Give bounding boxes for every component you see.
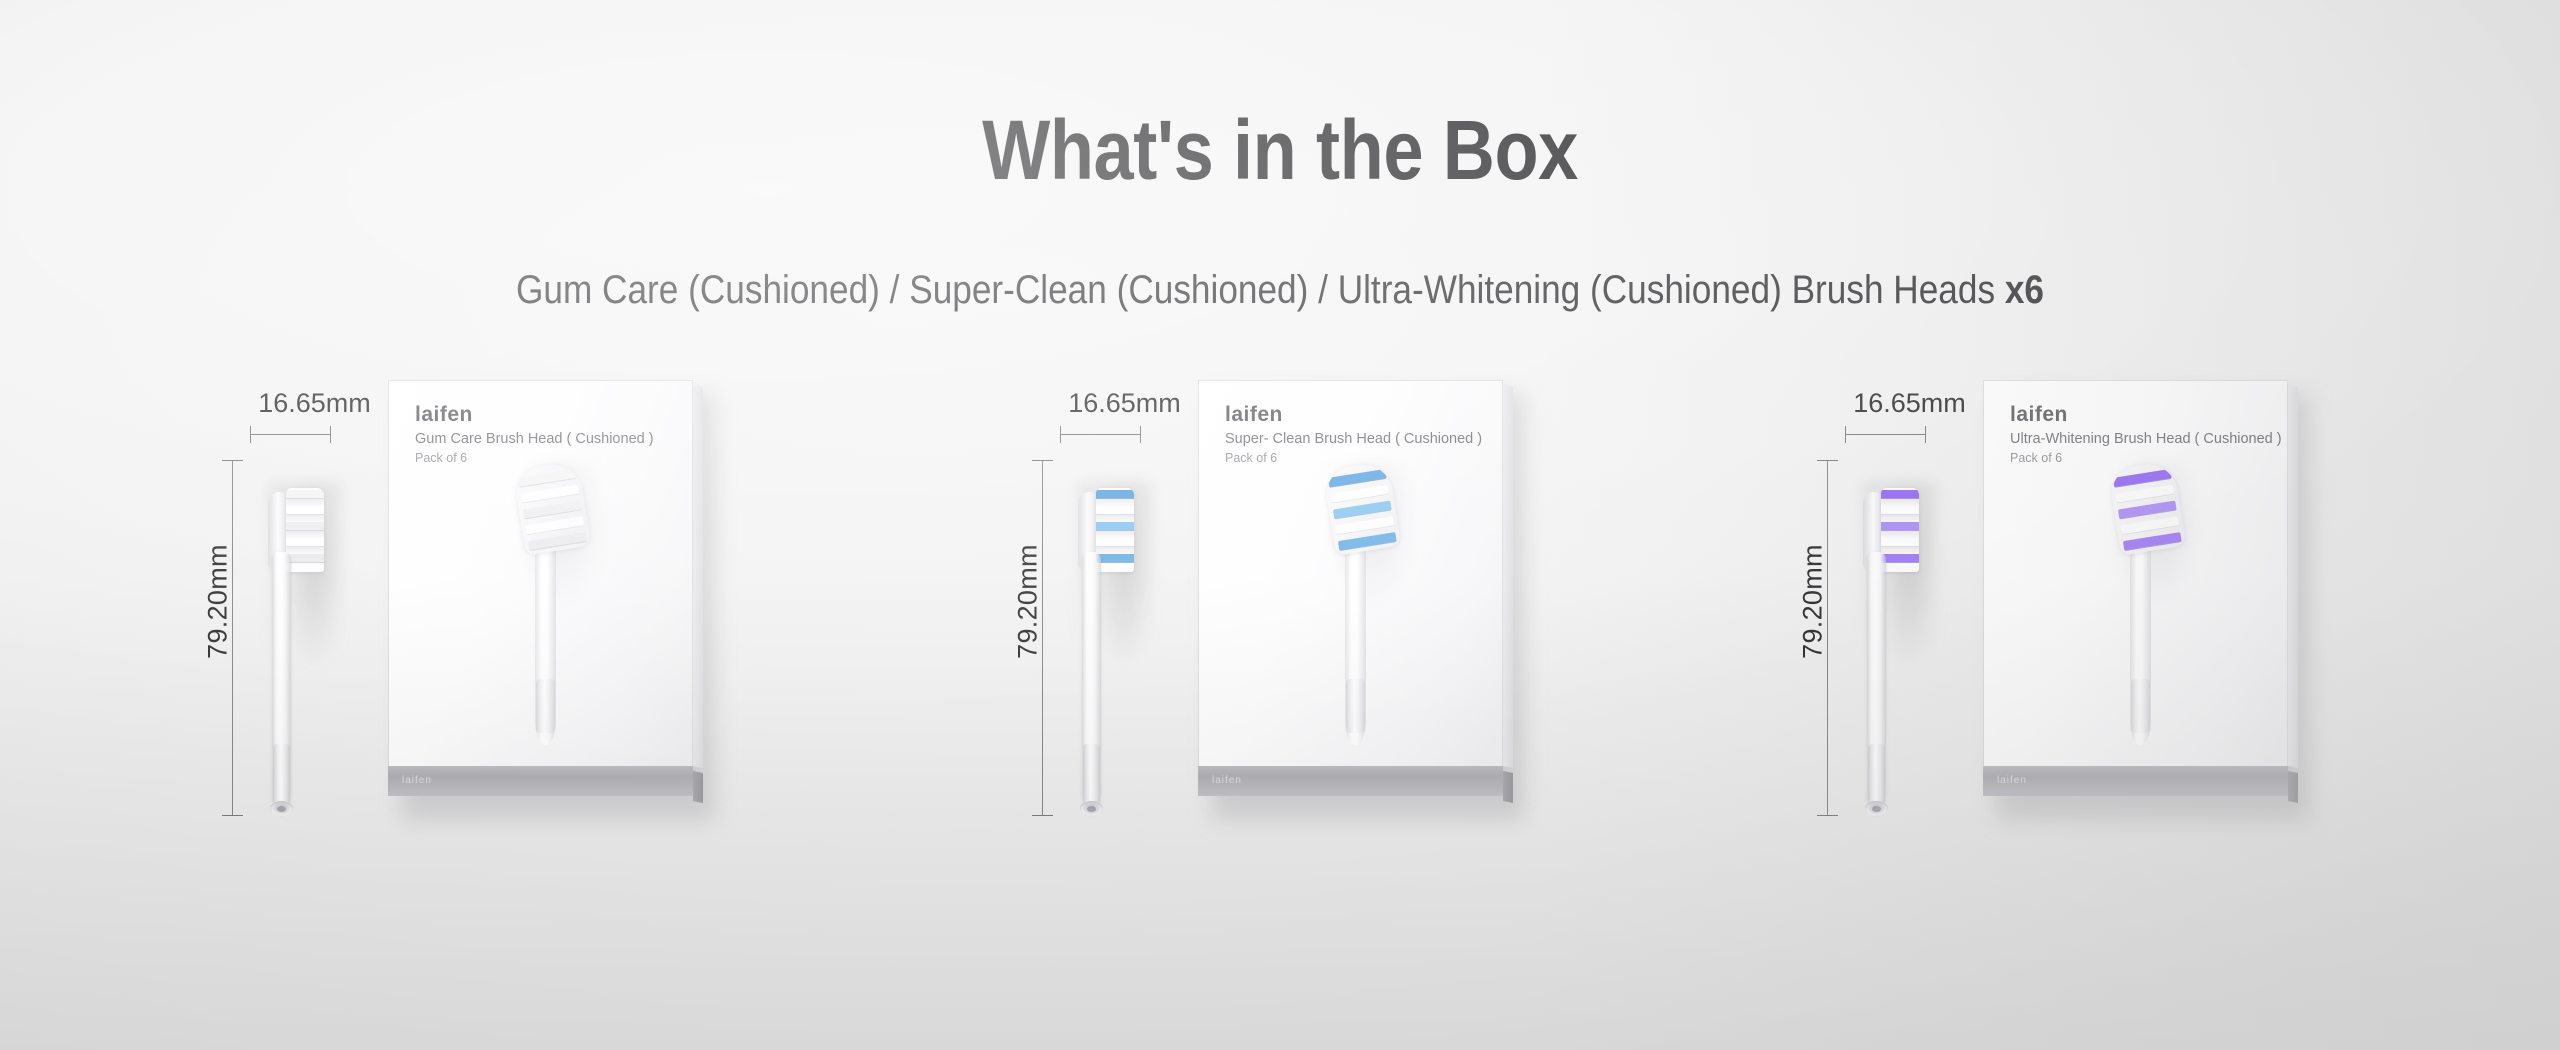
box-product-name: Ultra-Whitening Brush Head ( Cushioned ) (2010, 431, 2282, 447)
width-dimension-label: 16.65mm (1042, 388, 1207, 419)
height-cap-top (222, 460, 243, 461)
box-bristle-row (2115, 485, 2174, 504)
brush-bristles (1881, 488, 1919, 572)
brush-head-gum-care (246, 466, 330, 816)
bristle-row (1881, 490, 1919, 499)
box-base-band: laifen (1983, 766, 2288, 796)
bristle-row (286, 538, 324, 547)
width-dimension-label: 16.65mm (232, 388, 397, 419)
brush-bristles (1096, 488, 1134, 572)
box-side-panel (2288, 385, 2298, 768)
brush-bristles (286, 488, 324, 572)
width-dimension: 16.65mm (1058, 388, 1188, 448)
box-front-face: laifen Ultra-Whitening Brush Head ( Cush… (1983, 380, 2288, 766)
brush-head-super-clean (1056, 466, 1140, 816)
box-bristle-row (1333, 501, 1392, 520)
width-dimension: 16.65mm (248, 388, 378, 448)
bristle-row (1096, 522, 1134, 531)
bristle-gap (1881, 499, 1919, 506)
height-dimension-label: 79.20mm (203, 512, 234, 692)
box-front-face: laifen Gum Care Brush Head ( Cushioned )… (388, 380, 693, 766)
box-brush-illustration (477, 451, 627, 751)
whats-in-the-box-section: What's in the Box Gum Care (Cushioned) /… (0, 0, 2560, 1050)
bristle-gap (286, 547, 324, 554)
width-dimension-label: 16.65mm (1827, 388, 1992, 419)
page-subtitle: Gum Care (Cushioned) / Super-Clean (Cush… (154, 268, 2407, 313)
box-bristle-row (1328, 469, 1387, 488)
bristle-gap (1096, 531, 1134, 538)
bristle-row (286, 506, 324, 515)
box-front-face: laifen Super- Clean Brush Head ( Cushion… (1198, 380, 1503, 766)
box-bristle-row (518, 469, 577, 488)
box-brand-logo: laifen (415, 403, 473, 427)
bristle-gap (1881, 515, 1919, 522)
height-dimension-label: 79.20mm (1798, 512, 1829, 692)
box-side-panel (693, 385, 703, 768)
brush-handle (1082, 552, 1101, 814)
width-dimension-line (1845, 434, 1925, 435)
box-pack-count: Pack of 6 (415, 451, 467, 465)
brush-tip-ring (1080, 801, 1103, 816)
subtitle-quantity: x6 (2005, 268, 2044, 312)
box-bristle-row (1335, 516, 1394, 535)
product-box-super-clean: laifen Super- Clean Brush Head ( Cushion… (1198, 380, 1510, 810)
box-product-name: Gum Care Brush Head ( Cushioned ) (415, 431, 654, 447)
box-side-panel (1503, 385, 1513, 768)
bristle-gap (1881, 531, 1919, 538)
box-brush-illustration (2072, 451, 2222, 751)
subtitle-text: Gum Care (Cushioned) / Super-Clean (Cush… (516, 268, 2005, 312)
bristle-gap (1881, 547, 1919, 554)
box-bristle-row (523, 501, 582, 520)
box-base-side (1503, 771, 1513, 803)
width-cap-left (1060, 426, 1061, 443)
bristle-gap (1096, 499, 1134, 506)
box-brush-stem (535, 537, 556, 745)
page-title: What's in the Box (179, 108, 2381, 192)
height-cap-bottom (1817, 815, 1838, 816)
bristle-gap (1096, 547, 1134, 554)
bristle-gap (286, 499, 324, 506)
bristle-row (1881, 554, 1919, 563)
product-box-gum-care: laifen Gum Care Brush Head ( Cushioned )… (388, 380, 700, 810)
box-brand-logo: laifen (1225, 403, 1283, 427)
width-dimension: 16.65mm (1843, 388, 1973, 448)
box-bristle-row (2113, 469, 2172, 488)
bristle-row (286, 522, 324, 531)
height-cap-bottom (222, 815, 243, 816)
box-base-side (693, 771, 703, 803)
width-cap-right (1925, 426, 1926, 443)
bristle-gap (286, 515, 324, 522)
box-base-band: laifen (1198, 766, 1503, 796)
box-base-band: laifen (388, 766, 693, 796)
bristle-gap (286, 531, 324, 538)
brush-head-ultra-whitening (1841, 466, 1925, 816)
bristle-row (286, 554, 324, 563)
box-bristle-row (2120, 516, 2179, 535)
height-dimension: 79.20mm (1785, 458, 1845, 818)
height-cap-bottom (1032, 815, 1053, 816)
box-bristle-row (525, 516, 584, 535)
box-pack-count: Pack of 6 (2010, 451, 2062, 465)
brush-tip-ring (1865, 801, 1888, 816)
width-dimension-line (1060, 434, 1140, 435)
box-brand-logo: laifen (2010, 403, 2068, 427)
width-dimension-line (250, 434, 330, 435)
height-dimension: 79.20mm (190, 458, 250, 818)
bristle-row (1096, 490, 1134, 499)
bristle-row (286, 490, 324, 499)
box-brush-stem (2130, 537, 2151, 745)
bristle-row (1096, 506, 1134, 515)
box-product-name: Super- Clean Brush Head ( Cushioned ) (1225, 431, 1482, 447)
bristle-row (1881, 506, 1919, 515)
bristle-row (1881, 538, 1919, 547)
bristle-row (1096, 554, 1134, 563)
box-base-logo: laifen (1997, 775, 2027, 786)
width-cap-left (250, 426, 251, 443)
height-cap-top (1817, 460, 1838, 461)
width-cap-right (1140, 426, 1141, 443)
height-cap-top (1032, 460, 1053, 461)
bristle-row (1096, 538, 1134, 547)
width-cap-right (330, 426, 331, 443)
box-base-side (2288, 771, 2298, 803)
box-bristle-row (2118, 501, 2177, 520)
height-dimension: 79.20mm (1000, 458, 1060, 818)
box-base-logo: laifen (402, 775, 432, 786)
width-cap-left (1845, 426, 1846, 443)
box-brush-illustration (1287, 451, 1437, 751)
box-base-logo: laifen (1212, 775, 1242, 786)
bristle-row (1881, 522, 1919, 531)
box-bristle-row (1330, 485, 1389, 504)
brush-tip-ring (270, 801, 293, 816)
brush-handle (272, 552, 291, 814)
box-pack-count: Pack of 6 (1225, 451, 1277, 465)
box-bristle-row (520, 485, 579, 504)
product-box-ultra-whitening: laifen Ultra-Whitening Brush Head ( Cush… (1983, 380, 2295, 810)
brush-handle (1867, 552, 1886, 814)
height-dimension-label: 79.20mm (1013, 512, 1044, 692)
box-brush-stem (1345, 537, 1366, 745)
bristle-gap (1096, 515, 1134, 522)
